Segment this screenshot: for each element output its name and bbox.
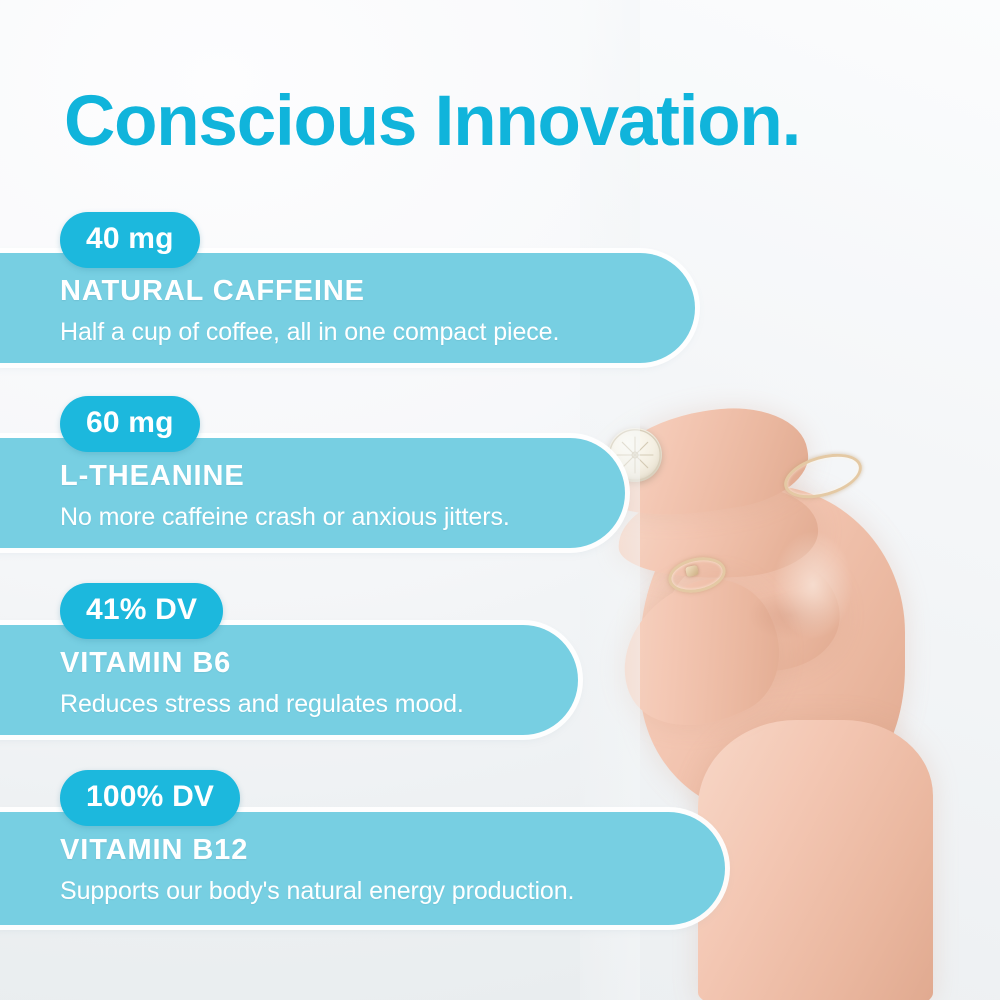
card-description: Half a cup of coffee, all in one compact… [60,318,559,347]
dosage-badge-vitamin-b6: 41% DV [60,583,223,639]
card-description: Reduces stress and regulates mood. [60,690,464,719]
card-title: VITAMIN B6 [60,647,464,680]
card-description: No more caffeine crash or anxious jitter… [60,503,510,532]
card-body: VITAMIN B12 Supports our body's natural … [60,812,574,906]
card-title: VITAMIN B12 [60,834,574,867]
product-benefits-poster: Conscious Innovation. NATURAL CAFFEINE H… [0,0,1000,1000]
dosage-badge-vitamin-b12: 100% DV [60,770,240,826]
benefit-card-list: NATURAL CAFFEINE Half a cup of coffee, a… [0,0,1000,1000]
card-title: L-THEANINE [60,460,510,493]
dosage-badge-caffeine: 40 mg [60,212,200,268]
card-body: L-THEANINE No more caffeine crash or anx… [60,438,510,532]
card-description: Supports our body's natural energy produ… [60,877,574,906]
card-title: NATURAL CAFFEINE [60,275,559,308]
dosage-badge-l-theanine: 60 mg [60,396,200,452]
card-body: VITAMIN B6 Reduces stress and regulates … [60,625,464,719]
